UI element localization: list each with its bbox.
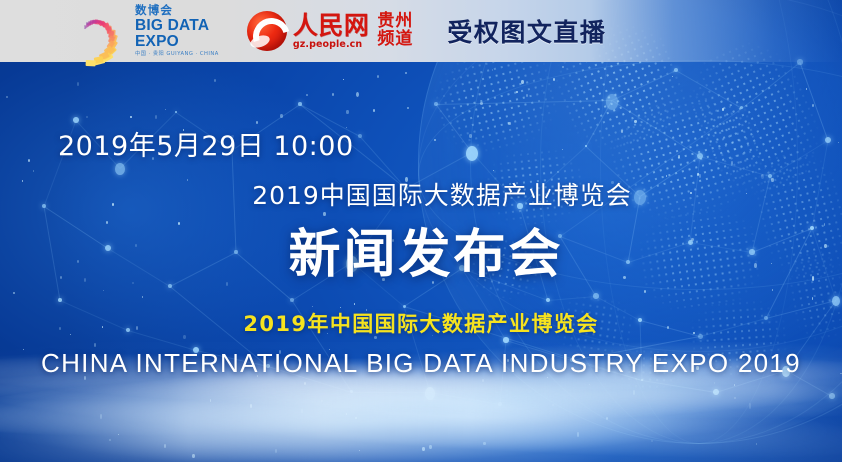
poster-copy: 2019年5月29日 10:00 2019中国国际大数据产业博览会 新闻发布会 …	[0, 0, 842, 462]
big-data-expo-logo[interactable]: 数博会 BIG DATA EXPO 中国 · 贵阳 GUIYANG · CHIN…	[62, 2, 219, 60]
event-headline: 新闻发布会	[0, 212, 842, 287]
expo-logo-en-line1: BIG DATA	[135, 18, 219, 34]
header-bar: 数博会 BIG DATA EXPO 中国 · 贵阳 GUIYANG · CHIN…	[0, 0, 842, 62]
expo-spiral-mark-icon	[62, 2, 128, 60]
people-cn-name: 人民网	[293, 13, 370, 38]
expo-logo-block	[86, 60, 96, 67]
expo-name-en: CHINA INTERNATIONAL BIG DATA INDUSTRY EX…	[0, 348, 842, 379]
event-subtitle-cn: 2019中国国际大数据产业博览会	[0, 176, 842, 212]
live-broadcast-title: 受权图文直播	[447, 13, 606, 49]
people-cn-globe-icon	[247, 11, 287, 51]
event-datetime: 2019年5月29日 10:00	[58, 124, 354, 163]
people-cn-logo[interactable]: 人民网 gz.people.cn 贵州 频道	[247, 11, 414, 51]
people-cn-url: gz.people.cn	[293, 40, 370, 50]
livestream-poster: 数博会 BIG DATA EXPO 中国 · 贵阳 GUIYANG · CHIN…	[0, 0, 842, 462]
expo-logo-en-line2: EXPO	[135, 34, 219, 50]
expo-logo-sub: 中国 · 贵阳 GUIYANG · CHINA	[135, 52, 219, 57]
guizhou-channel-line2: 频道	[377, 31, 413, 49]
guizhou-channel-label: 贵州 频道	[377, 13, 413, 48]
expo-logo-cn: 数博会	[135, 5, 219, 17]
expo-name-cn: 2019年中国国际大数据产业博览会	[0, 308, 842, 338]
